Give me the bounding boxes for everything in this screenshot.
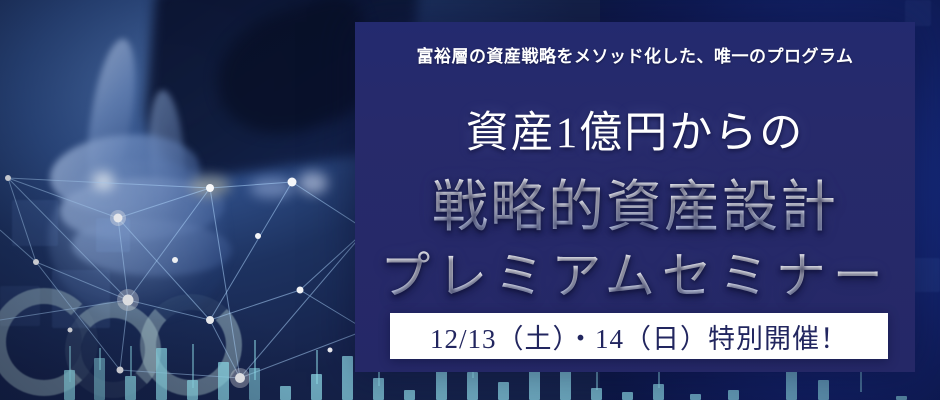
page-title-line-2: 戦略的資産設計: [355, 162, 915, 243]
page-title-line-1: 資産1億円からの: [355, 98, 915, 160]
eyebrow-text: 富裕層の資産戦略をメソッド化した、唯一のプログラム: [355, 42, 915, 67]
content-panel: 富裕層の資産戦略をメソッド化した、唯一のプログラム 資産1億円からの 戦略的資産…: [355, 22, 915, 372]
seminar-banner: 富裕層の資産戦略をメソッド化した、唯一のプログラム 資産1億円からの 戦略的資産…: [0, 0, 940, 400]
date-badge: 12/13（土）・14（日）特別開催！: [390, 313, 888, 359]
page-title-line-3: プレミアムセミナー: [355, 236, 915, 308]
date-text: 12/13（土）・14（日）特別開催！: [430, 317, 848, 356]
